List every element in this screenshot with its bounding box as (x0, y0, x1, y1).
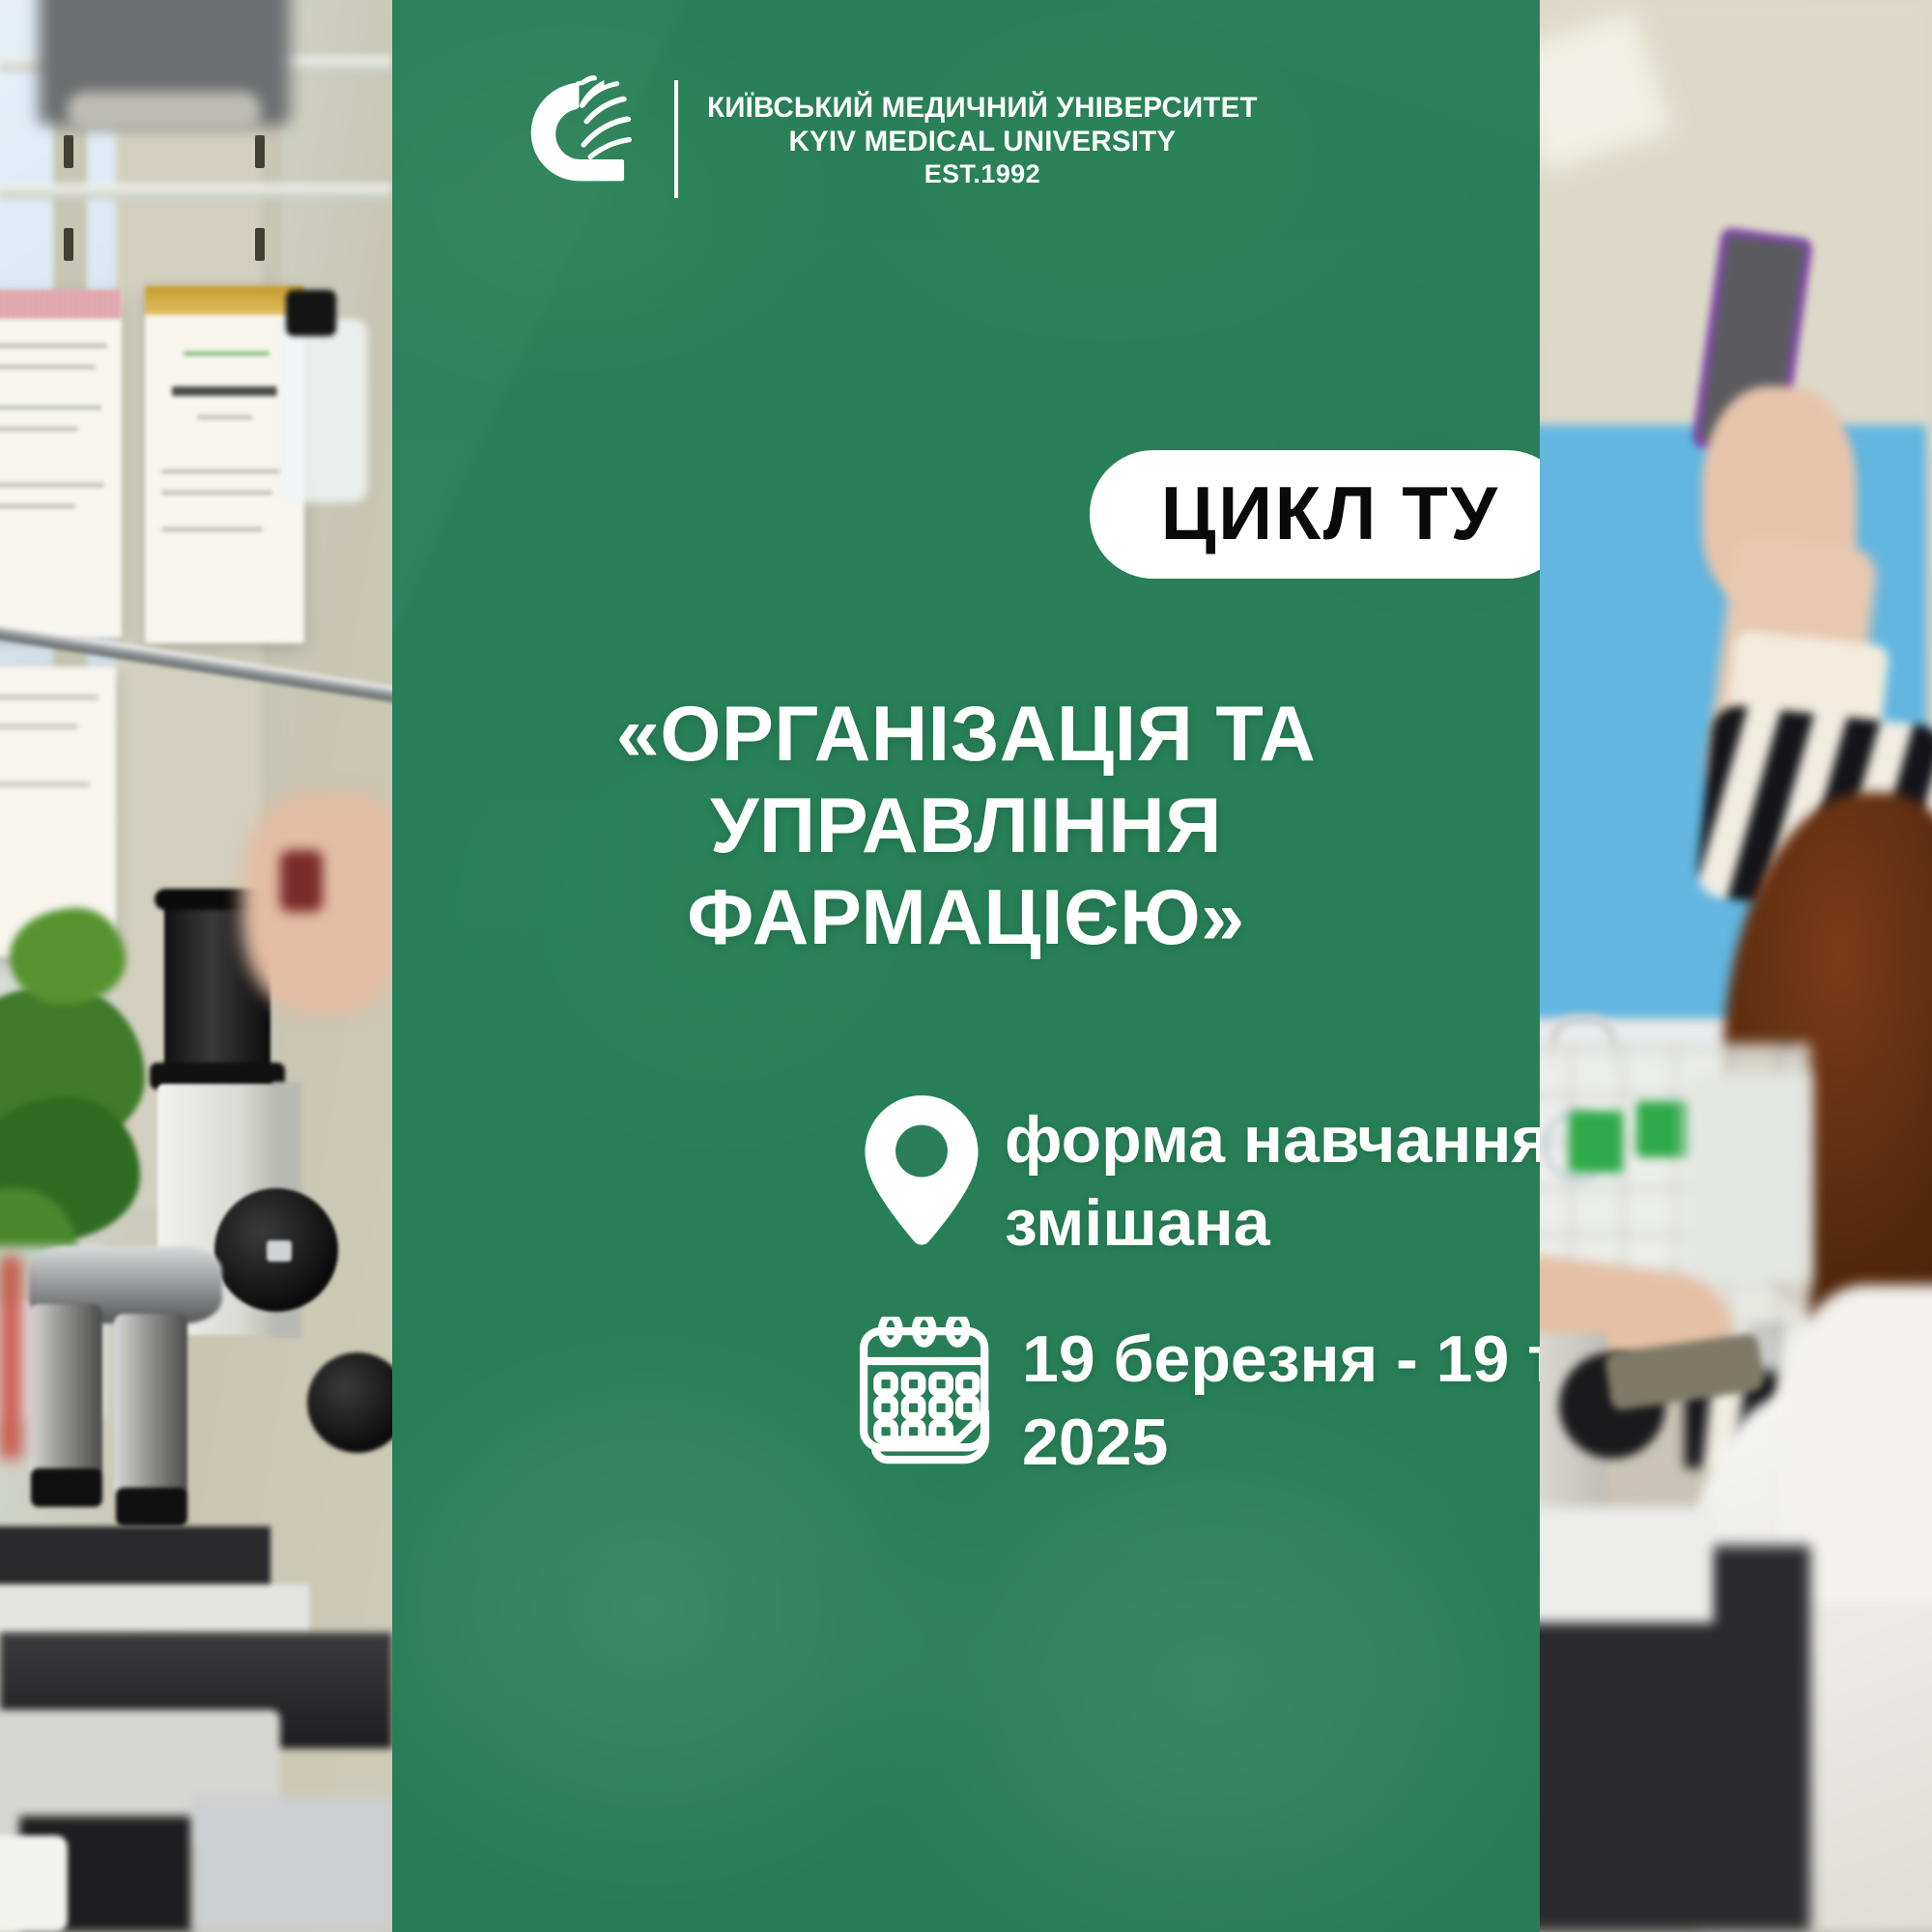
center-green-panel: КИЇВСЬКИЙ МЕДИЧНИЙ УНІВЕРСИТЕТ KYIV MEDI… (392, 0, 1540, 1932)
course-type-badge: ЦИКЛ ТУ (1090, 450, 1540, 579)
detail-dates-text: 19 березня - 19 травня 2025 (1022, 1311, 1540, 1484)
course-type-badge-label: ЦИКЛ ТУ (1161, 475, 1500, 551)
map-pin-icon (838, 1090, 1005, 1250)
course-details: форма навчання змішана (838, 1090, 1540, 1485)
kmu-serpent-logo-icon (502, 68, 647, 211)
detail-row-dates: 19 березня - 19 травня 2025 (838, 1311, 1540, 1484)
promo-poster: КИЇВСЬКИЙ МЕДИЧНИЙ УНІВЕРСИТЕТ KYIV MEDI… (0, 0, 1932, 1932)
brand-name-uk: КИЇВСЬКИЙ МЕДИЧНИЙ УНІВЕРСИТЕТ (707, 92, 1258, 126)
right-photo-panel (1540, 0, 1932, 1932)
detail-row-format: форма навчання змішана (838, 1090, 1540, 1264)
calendar-icon (838, 1311, 1022, 1471)
detail-format-text: форма навчання змішана (1005, 1090, 1540, 1264)
brand-established: EST.1992 (924, 159, 1040, 190)
left-photo-panel (0, 0, 392, 1932)
course-title: «ОРГАНІЗАЦІЯ ТА УПРАВЛІННЯ ФАРМАЦІЄЮ» (392, 689, 1540, 963)
brand-name-en: KYIV MEDICAL UNIVERSITY (789, 126, 1177, 159)
brand-divider (674, 80, 678, 198)
brand-lockup: КИЇВСЬКИЙ МЕДИЧНИЙ УНІВЕРСИТЕТ KYIV MEDI… (502, 68, 1258, 211)
